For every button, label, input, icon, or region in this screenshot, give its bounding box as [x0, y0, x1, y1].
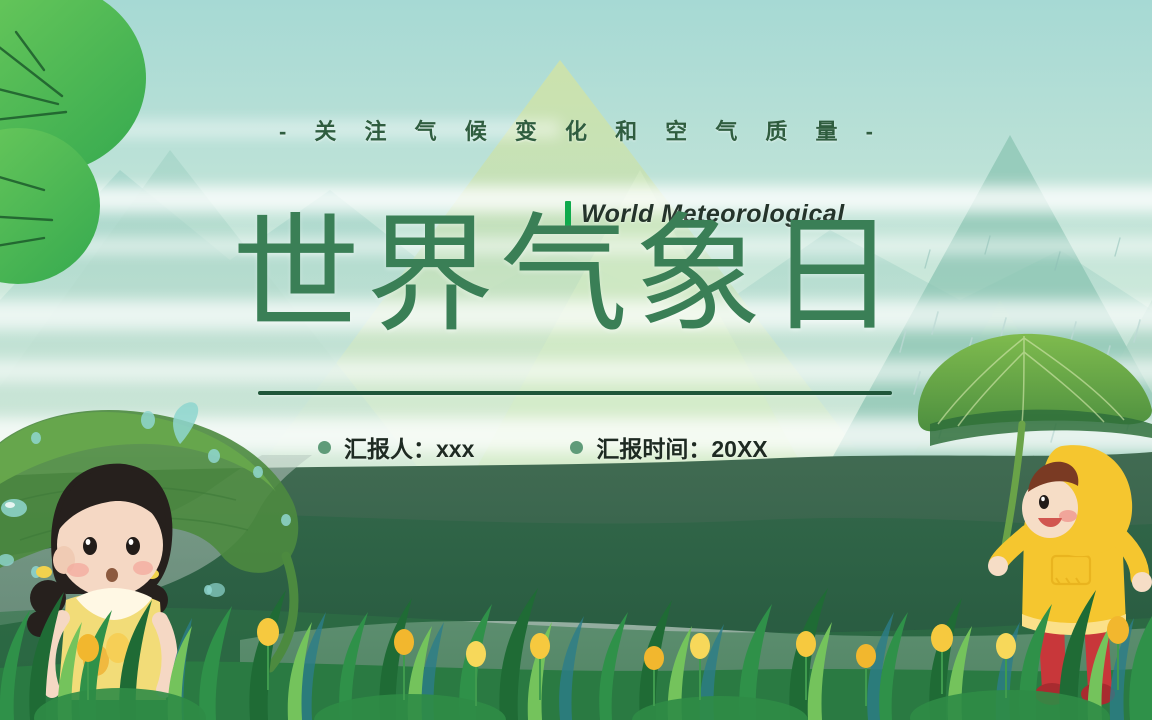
bullet-dot-icon	[570, 441, 583, 454]
presenter-meta-row: 汇报人：xxx 汇报时间：20XX	[318, 430, 768, 464]
bullet-dot-icon	[318, 441, 331, 454]
title-divider	[258, 391, 892, 395]
presenter-label: 汇报人：xxx	[344, 430, 474, 464]
meta-item-presenter: 汇报人：xxx	[318, 430, 474, 464]
subtitle-tagline: - 关 注 气 候 变 化 和 空 气 质 量 -	[0, 114, 1152, 146]
report-date-label: 汇报时间：20XX	[596, 430, 767, 464]
meta-item-date: 汇报时间：20XX	[570, 430, 767, 464]
page-title: 世界气象日	[232, 212, 902, 340]
title-text-block: - 关 注 气 候 变 化 和 空 气 质 量 - World Meteorol…	[0, 0, 1152, 720]
slide-canvas: - 关 注 气 候 变 化 和 空 气 质 量 - World Meteorol…	[0, 0, 1152, 720]
